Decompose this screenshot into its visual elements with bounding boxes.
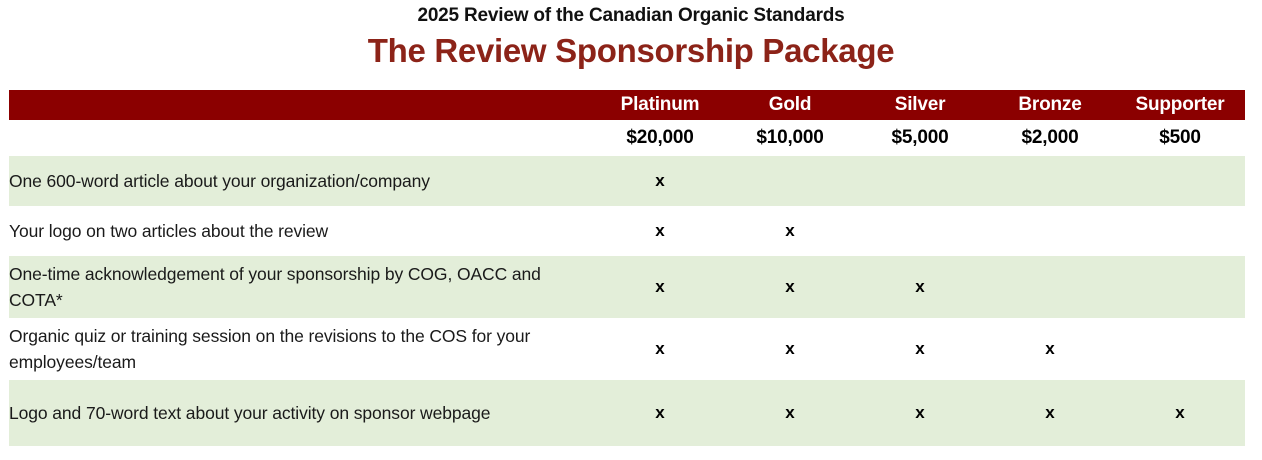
tier-header-supporter: Supporter — [1115, 90, 1245, 120]
benefit-mark-gold — [725, 156, 855, 206]
page-title: The Review Sponsorship Package — [0, 30, 1262, 72]
benefit-mark-platinum: x — [595, 318, 725, 380]
benefit-mark-bronze — [985, 206, 1115, 256]
benefit-mark-platinum: x — [595, 256, 725, 318]
table-row: Organic quiz or training session on the … — [9, 318, 1245, 380]
price-blank-cell — [9, 120, 595, 156]
benefit-mark-silver — [855, 156, 985, 206]
benefit-mark-supporter — [1115, 318, 1245, 380]
tier-header-platinum: Platinum — [595, 90, 725, 120]
tier-header-silver: Silver — [855, 90, 985, 120]
benefit-mark-platinum: x — [595, 206, 725, 256]
benefit-mark-supporter — [1115, 256, 1245, 318]
table-row: Logo and 70-word text about your activit… — [9, 380, 1245, 446]
benefit-mark-supporter — [1115, 206, 1245, 256]
tier-header-gold: Gold — [725, 90, 855, 120]
benefit-mark-bronze: x — [985, 380, 1115, 446]
tier-price-bronze: $2,000 — [985, 120, 1115, 156]
tier-price-gold: $10,000 — [725, 120, 855, 156]
benefit-mark-silver: x — [855, 318, 985, 380]
title-block: 2025 Review of the Canadian Organic Stan… — [0, 0, 1262, 72]
benefit-mark-silver: x — [855, 256, 985, 318]
tier-price-row: $20,000 $10,000 $5,000 $2,000 $500 — [9, 120, 1245, 156]
benefit-description: Your logo on two articles about the revi… — [9, 206, 595, 256]
benefit-mark-platinum: x — [595, 156, 725, 206]
benefit-mark-bronze — [985, 156, 1115, 206]
benefit-mark-silver — [855, 206, 985, 256]
tier-header-row: Platinum Gold Silver Bronze Supporter — [9, 90, 1245, 120]
benefit-mark-bronze — [985, 256, 1115, 318]
tier-price-platinum: $20,000 — [595, 120, 725, 156]
tier-header-blank-cell — [9, 90, 595, 120]
tier-price-supporter: $500 — [1115, 120, 1245, 156]
sponsorship-table-wrapper: Platinum Gold Silver Bronze Supporter $2… — [9, 90, 1245, 446]
table-row: Your logo on two articles about the revi… — [9, 206, 1245, 256]
benefit-mark-bronze: x — [985, 318, 1115, 380]
tier-price-silver: $5,000 — [855, 120, 985, 156]
sponsorship-table: Platinum Gold Silver Bronze Supporter $2… — [9, 90, 1245, 446]
benefit-mark-gold: x — [725, 318, 855, 380]
page-subtitle: 2025 Review of the Canadian Organic Stan… — [0, 4, 1262, 28]
benefit-mark-supporter — [1115, 156, 1245, 206]
benefit-description: One 600-word article about your organiza… — [9, 156, 595, 206]
tier-header-bronze: Bronze — [985, 90, 1115, 120]
benefit-mark-gold: x — [725, 380, 855, 446]
benefit-mark-gold: x — [725, 256, 855, 318]
benefit-mark-supporter: x — [1115, 380, 1245, 446]
table-row: One 600-word article about your organiza… — [9, 156, 1245, 206]
benefit-description: Logo and 70-word text about your activit… — [9, 380, 595, 446]
table-row: One-time acknowledgement of your sponsor… — [9, 256, 1245, 318]
benefit-description: One-time acknowledgement of your sponsor… — [9, 256, 595, 318]
benefit-description: Organic quiz or training session on the … — [9, 318, 595, 380]
benefit-mark-gold: x — [725, 206, 855, 256]
benefit-mark-platinum: x — [595, 380, 725, 446]
benefit-mark-silver: x — [855, 380, 985, 446]
sponsorship-package-page: 2025 Review of the Canadian Organic Stan… — [0, 0, 1262, 460]
